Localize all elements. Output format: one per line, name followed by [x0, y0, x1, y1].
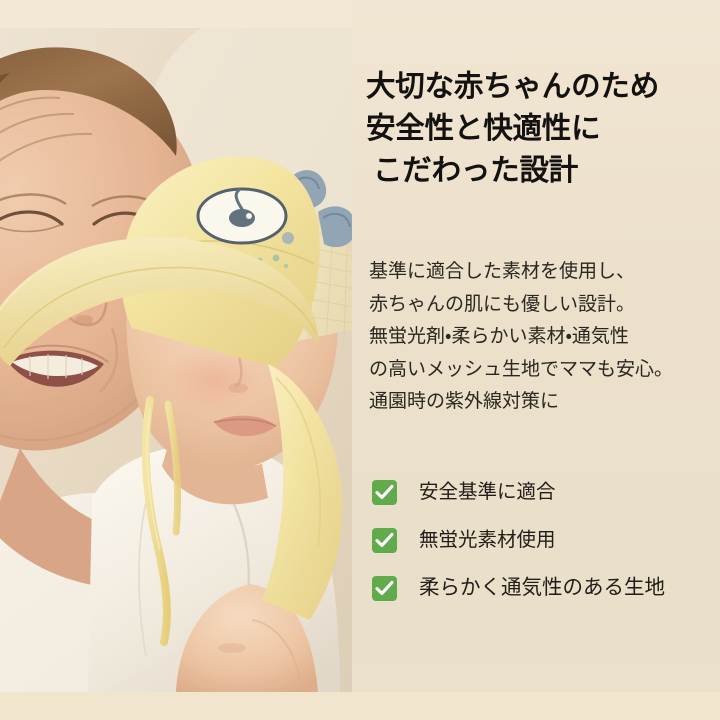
content-column: 大切な赤ちゃんのため 安全性と快適性に こだわった設計 基準に適合した素材を使用…: [366, 0, 720, 720]
body-description: 基準に適合した素材を使用し、 赤ちゃんの肌にも優しい設計。 無蛍光剤・柔らかい素…: [369, 256, 717, 419]
feature-checklist: 安全基準に適合 無蛍光素材使用 柔らかく通気性のある生地: [372, 470, 720, 611]
headline-line-3: こだわった設計: [366, 150, 720, 192]
body-line-5: 通園時の紫外線対策に: [369, 386, 717, 419]
body-line-4: の高いメッシュ生地でママも安心。: [369, 354, 717, 387]
body-line-3: 無蛍光剤・柔らかい素材・通気性: [369, 321, 717, 354]
body-line-2: 赤ちゃんの肌にも優しい設計。: [369, 289, 717, 322]
check-icon: [372, 480, 397, 505]
list-item: 無蛍光素材使用: [372, 518, 720, 563]
body-line-1: 基準に適合した素材を使用し、: [369, 256, 717, 289]
headline-line-1: 大切な赤ちゃんのため: [366, 66, 720, 108]
page-title: 大切な赤ちゃんのため 安全性と快適性に こだわった設計: [366, 66, 720, 192]
checklist-item-label: 安全基準に適合: [419, 483, 556, 503]
list-item: 柔らかく通気性のある生地: [372, 566, 720, 611]
checklist-item-label: 無蛍光素材使用: [419, 531, 556, 551]
headline-line-2: 安全性と快適性に: [366, 108, 720, 150]
list-item: 安全基準に適合: [372, 470, 720, 515]
mother-and-baby-photo: [0, 28, 352, 692]
check-icon: [372, 528, 397, 553]
background-top-band: [0, 0, 352, 28]
check-icon: [372, 576, 397, 601]
checklist-item-label: 柔らかく通気性のある生地: [419, 578, 665, 599]
product-feature-banner: 大切な赤ちゃんのため 安全性と快適性に こだわった設計 基準に適合した素材を使用…: [0, 0, 720, 720]
